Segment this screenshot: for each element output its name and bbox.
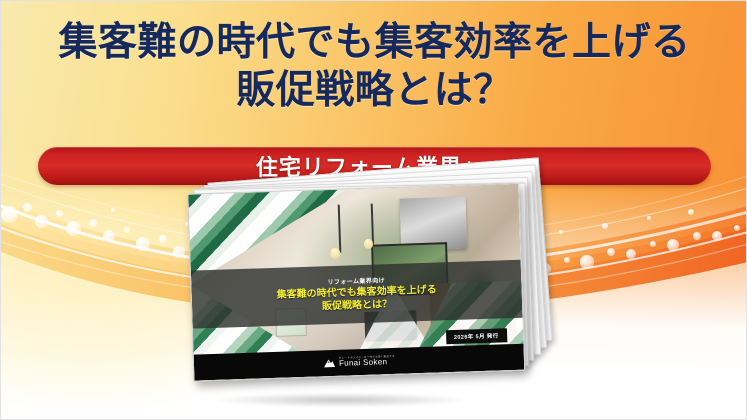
cover-date-badge: 2026年 5月 発行	[446, 328, 507, 344]
bokeh-dot	[35, 215, 48, 228]
bokeh-dot	[559, 230, 564, 235]
cover-title: 集客難の時代でも集客効率を上げる 販促戦略とは？	[277, 285, 438, 315]
bokeh-dot	[1, 206, 18, 223]
booklet-mockup: リフォーム業界向け 集客難の時代でも集客効率を上げる 販促戦略とは？ 2026年…	[193, 189, 553, 404]
bokeh-dot	[607, 248, 615, 256]
poster-canvas: 集客難の時代でも集客効率を上げる 販促戦略とは？ 住宅リフォーム業界 向け	[0, 0, 747, 420]
bokeh-dot	[124, 227, 130, 233]
bokeh-dot	[712, 231, 722, 241]
bokeh-dot	[66, 221, 81, 236]
bokeh-dot	[647, 216, 652, 221]
bokeh-dot	[173, 246, 185, 258]
booklet-cover: リフォーム業界向け 集客難の時代でも集客効率を上げる 販促戦略とは？ 2026年…	[187, 183, 525, 382]
headline-line-2: 販促戦略とは？	[1, 69, 747, 113]
cover-logo-name: Funai Soken	[339, 359, 387, 369]
bokeh-dot	[650, 241, 656, 247]
bokeh-dot	[136, 237, 150, 251]
bokeh-dot	[159, 235, 167, 243]
bokeh-dot	[56, 210, 63, 217]
bokeh-dot	[111, 208, 115, 212]
bokeh-dot	[688, 209, 694, 215]
headline-line-1: 集客難の時代でも集客効率を上げる	[1, 21, 747, 65]
cover-eyebrow: リフォーム業界向け	[327, 275, 385, 286]
bokeh-dot	[734, 225, 741, 232]
bokeh-dot	[23, 203, 32, 212]
page-title: 集客難の時代でも集客効率を上げる 販促戦略とは？	[1, 21, 747, 114]
cover-title-band: リフォーム業界向け 集客難の時代でも集客効率を上げる 販促戦略とは？	[191, 260, 523, 329]
bokeh-dot	[626, 249, 637, 260]
bokeh-dot	[564, 257, 570, 263]
bokeh-dot	[693, 232, 701, 240]
bokeh-dot	[667, 239, 679, 251]
bokeh-dot	[580, 255, 593, 268]
bokeh-dot	[103, 230, 115, 242]
funai-soken-mountain-mark	[323, 358, 336, 368]
bokeh-dot	[602, 223, 607, 228]
bokeh-dot	[89, 219, 97, 227]
